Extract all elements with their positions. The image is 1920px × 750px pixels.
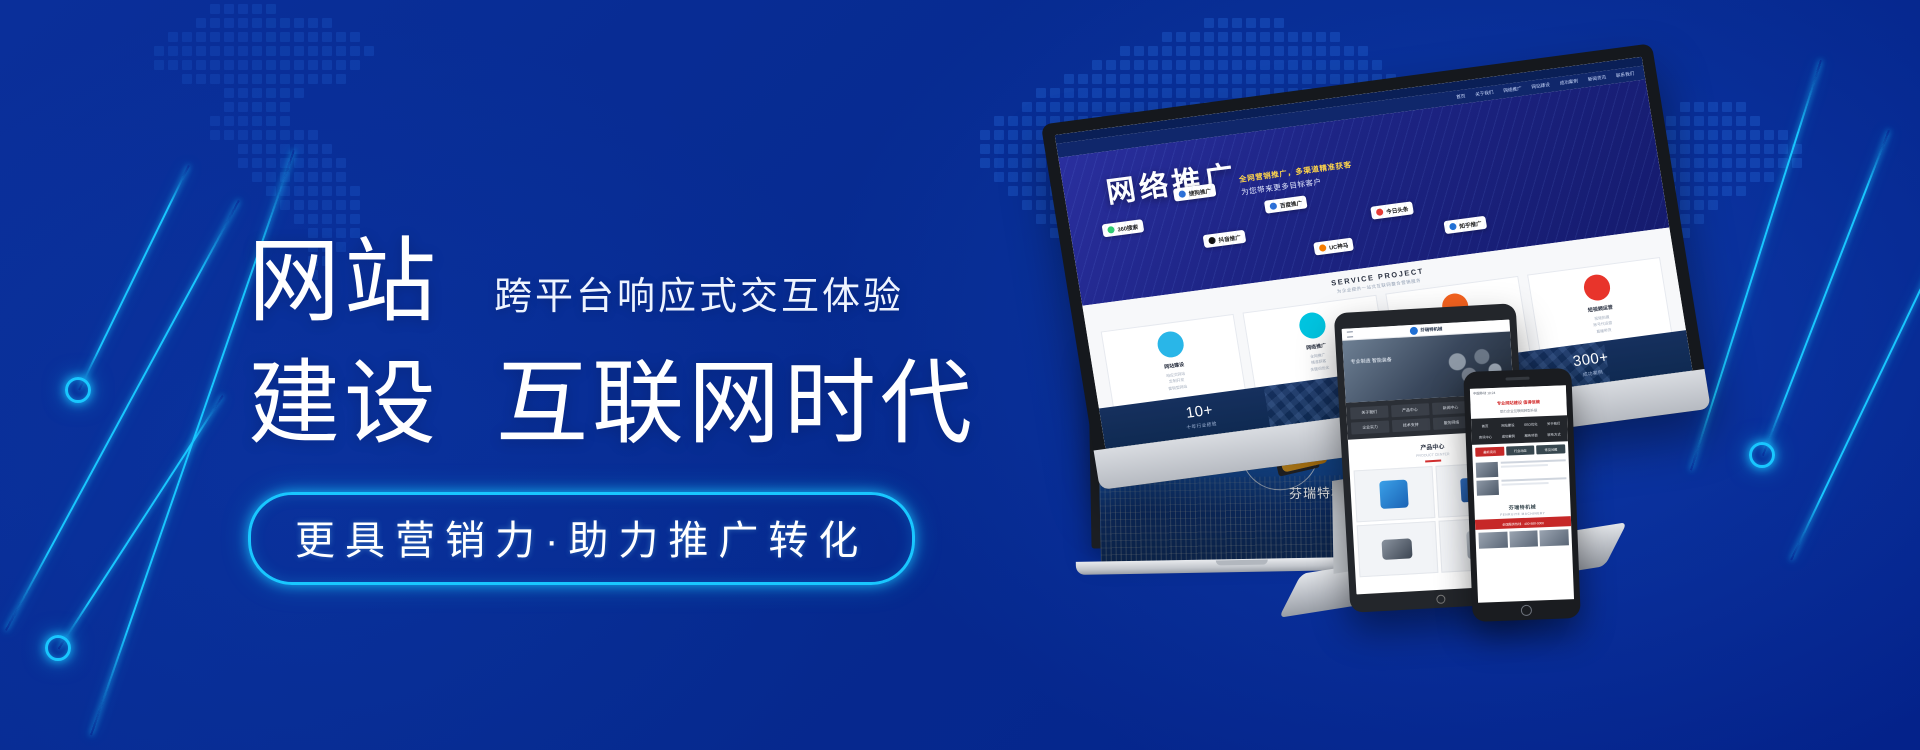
- partner-badge-label: 抖音推广: [1218, 233, 1241, 244]
- tablet-site-brand: 芬瑞特机械: [1420, 326, 1442, 333]
- monitor-nav-item[interactable]: 网站建设: [1531, 82, 1550, 90]
- headline-keyword-1: 网站: [248, 236, 440, 328]
- tablet-home-button[interactable]: [1436, 595, 1445, 604]
- tagline-wrapper: 更具营销力·助力推广转化: [248, 492, 1088, 585]
- monitor-nav-item[interactable]: 关于我们: [1475, 90, 1494, 98]
- phone-screen: 中国移动 10:24 专业网站建设 值得信赖 助力企业互联网转型升级 首页网站建…: [1470, 385, 1574, 603]
- tablet-menu-item[interactable]: 关于我们: [1350, 405, 1388, 419]
- partner-badge-label: UC神马: [1328, 241, 1348, 251]
- glow-node-circle: [65, 377, 91, 403]
- monitor-nav-item[interactable]: 新闻资讯: [1587, 75, 1606, 83]
- phone-tab[interactable]: 最新资讯: [1475, 446, 1504, 456]
- gallery-thumb[interactable]: [1478, 532, 1507, 549]
- partner-badge-label: 搜狗推广: [1188, 186, 1211, 197]
- headline-row-2: 建设 互联网时代: [248, 358, 1088, 450]
- tablet-hero-caption: 专业制造 智能装备: [1350, 356, 1392, 367]
- monitor-hero-partner-badges: 搜狗推广360搜索百度推广抖音推广今日头条UC神马知乎推广: [1058, 79, 1645, 157]
- phone-promo-line2: 助力企业互联网转型升级: [1474, 406, 1564, 414]
- phone-nav-item[interactable]: SEO优化: [1520, 419, 1542, 429]
- service-card-icon: [1582, 273, 1612, 302]
- monitor-hero-subtitle-alt: 为您带来更多目标客户: [1240, 172, 1354, 200]
- monitor-nav-item[interactable]: 成功案例: [1559, 78, 1578, 86]
- partner-badge-label: 知乎推广: [1459, 219, 1482, 230]
- monitor-hero-subtitle-main: 全网营销推广，多渠道精准获客: [1238, 160, 1352, 184]
- partner-badge[interactable]: 搜狗推广: [1173, 183, 1217, 201]
- partner-logo-icon: [1178, 190, 1186, 198]
- headline-row-1: 网站 跨平台响应式交互体验: [248, 236, 1088, 328]
- monitor-nav-item[interactable]: 联系我们: [1616, 71, 1635, 79]
- partner-logo-icon: [1449, 223, 1457, 231]
- news-item[interactable]: [1476, 459, 1567, 477]
- news-text: [1501, 477, 1567, 494]
- phone-nav-item[interactable]: 关于我们: [1543, 418, 1565, 428]
- partner-logo-icon: [1376, 208, 1384, 216]
- product-cell[interactable]: [1354, 466, 1435, 522]
- partner-logo-icon: [1208, 237, 1216, 245]
- partner-logo-icon: [1319, 244, 1327, 252]
- phone-news-list: [1473, 456, 1571, 502]
- phone-home-button[interactable]: [1521, 605, 1532, 616]
- phone-brand-name: 芬瑞特机械: [1509, 504, 1537, 511]
- phone-nav-item[interactable]: 网站建设: [1497, 420, 1519, 430]
- partner-logo-icon: [1107, 226, 1115, 234]
- gallery-thumb[interactable]: [1509, 530, 1538, 547]
- partner-badge[interactable]: 百度推广: [1264, 195, 1308, 213]
- tablet-menu-item[interactable]: 技术支持: [1392, 418, 1430, 432]
- service-card-icon: [1298, 311, 1328, 340]
- news-item[interactable]: [1476, 477, 1567, 495]
- monitor-hero-title: 网络推广: [1103, 152, 1241, 211]
- product-cell[interactable]: [1357, 520, 1438, 576]
- partner-badge[interactable]: 知乎推广: [1443, 216, 1487, 234]
- monitor-nav-item[interactable]: 首页: [1456, 93, 1466, 100]
- phone-site-nav: 首页网站建设SEO优化关于我们资讯中心成功案例服务项目联系方式: [1471, 415, 1568, 444]
- partner-badge[interactable]: 今日头条: [1370, 201, 1414, 219]
- hamburger-menu-icon[interactable]: [1347, 331, 1353, 337]
- tagline-badge: 更具营销力·助力推广转化: [248, 492, 915, 585]
- tablet-menu-item[interactable]: 产品中心: [1391, 403, 1429, 417]
- phone-nav-item[interactable]: 成功案例: [1497, 431, 1519, 441]
- partner-badge[interactable]: 抖音推广: [1203, 230, 1247, 248]
- news-thumbnail: [1476, 461, 1499, 477]
- banner-subtitle: 跨平台响应式交互体验: [494, 278, 904, 328]
- partner-badge-label: 今日头条: [1385, 204, 1408, 215]
- news-text: [1501, 459, 1567, 476]
- monitor-hero-subtitle: 全网营销推广，多渠道精准获客 为您带来更多目标客户: [1238, 159, 1355, 199]
- device-mockup-cluster: 泰安芬瑞特机械有限公司 网站首页关于我们产品中心新闻资讯客户案例联系我们 芬瑞特…: [1090, 120, 1850, 640]
- phone-nav-item[interactable]: 联系方式: [1543, 429, 1565, 439]
- phone-nav-item[interactable]: 首页: [1474, 421, 1496, 431]
- headline-keyword-2: 建设: [248, 358, 440, 450]
- hero-banner: 网站 跨平台响应式交互体验 建设 互联网时代 更具营销力·助力推广转化 泰安芬瑞…: [0, 0, 1920, 750]
- partner-badge-label: 360搜索: [1117, 222, 1139, 233]
- tablet-site-logo-icon: [1409, 326, 1417, 334]
- partner-badge[interactable]: 360搜索: [1102, 219, 1144, 237]
- partner-logo-icon: [1269, 202, 1277, 210]
- monitor-nav-item[interactable]: 网络推广: [1503, 86, 1522, 94]
- phone-mockup: 中国移动 10:24 专业网站建设 值得信赖 助力企业互联网转型升级 首页网站建…: [1463, 368, 1581, 622]
- phone-nav-item[interactable]: 资讯中心: [1475, 431, 1497, 441]
- news-thumbnail: [1476, 479, 1499, 495]
- service-card-icon: [1156, 330, 1186, 359]
- phone-tab[interactable]: 常见问题: [1536, 444, 1565, 454]
- partner-badge-label: 百度推广: [1279, 198, 1302, 209]
- gallery-thumb[interactable]: [1540, 529, 1569, 546]
- phone-tab[interactable]: 行业动态: [1506, 445, 1535, 455]
- glow-node-circle: [45, 635, 71, 661]
- tablet-menu-item[interactable]: 企业实力: [1351, 420, 1389, 434]
- glow-line: [5, 200, 240, 631]
- glow-line: [58, 395, 224, 649]
- headline-keyword-3: 互联网时代: [496, 358, 976, 450]
- partner-badge[interactable]: UC神马: [1313, 238, 1354, 256]
- glow-line: [78, 165, 190, 391]
- phone-image-grid: [1475, 526, 1572, 552]
- banner-copy: 网站 跨平台响应式交互体验 建设 互联网时代 更具营销力·助力推广转化: [248, 236, 1088, 585]
- phone-earpiece: [1505, 377, 1529, 380]
- phone-nav-item[interactable]: 服务项目: [1520, 430, 1542, 440]
